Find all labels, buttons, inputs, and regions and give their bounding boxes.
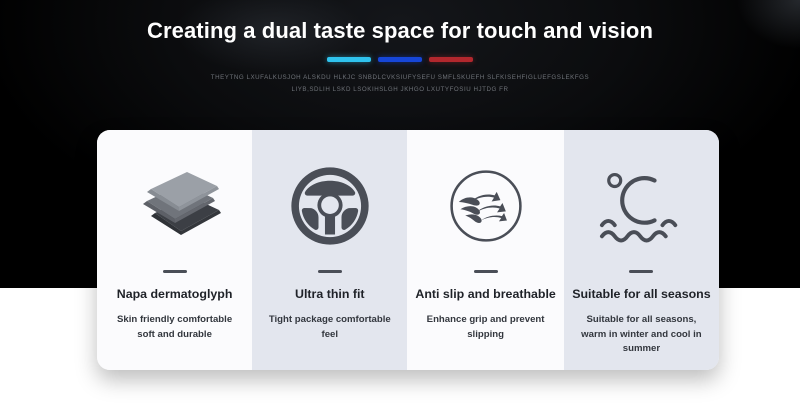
icon-area: [572, 142, 711, 270]
celsius-waves-icon: [594, 166, 688, 246]
accent-bar-group: [0, 57, 800, 62]
card-description: Skin friendly comfortable soft and durab…: [109, 313, 241, 342]
feature-panel: Napa dermatoglyph Skin friendly comforta…: [97, 130, 719, 370]
accent-bar-blue: [378, 57, 422, 62]
card-title: Napa dermatoglyph: [117, 287, 233, 302]
card-description: Suitable for all seasons, warm in winter…: [575, 313, 707, 357]
feature-card-napa-dermatoglyph[interactable]: Napa dermatoglyph Skin friendly comforta…: [97, 130, 252, 370]
card-title: Suitable for all seasons: [572, 287, 710, 302]
icon-area: [260, 142, 399, 270]
accent-bar-red: [429, 57, 473, 62]
hero-headline: Creating a dual taste space for touch an…: [0, 18, 800, 44]
stacked-layers-icon: [123, 169, 227, 243]
icon-area: [105, 142, 244, 270]
steering-wheel-icon: [288, 164, 372, 248]
card-description: Enhance grip and prevent slipping: [420, 313, 552, 342]
subcopy-line-2: LIYB,SDLIH LSKD LSOKIHSLGH JKHGO LXUTYFO…: [0, 84, 800, 96]
card-description: Tight package comfortable feel: [264, 313, 396, 342]
accent-bar-cyan: [327, 57, 371, 62]
card-divider: [163, 270, 187, 273]
promo-banner: Creating a dual taste space for touch an…: [0, 0, 800, 411]
card-divider: [318, 270, 342, 273]
feature-card-all-seasons[interactable]: Suitable for all seasons Suitable for al…: [564, 130, 719, 370]
subcopy-line-1: THEYTNG LXUFALKUSJOH ALSKDU HLKJC SNBDLC…: [0, 72, 800, 84]
card-title: Anti slip and breathable: [415, 287, 555, 302]
icon-area: [415, 142, 555, 270]
feature-card-anti-slip-breathable[interactable]: Anti slip and breathable Enhance grip an…: [407, 130, 563, 370]
feature-card-ultra-thin-fit[interactable]: Ultra thin fit Tight package comfortable…: [252, 130, 407, 370]
card-title: Ultra thin fit: [295, 287, 365, 302]
card-divider: [629, 270, 653, 273]
card-divider: [474, 270, 498, 273]
airflow-circle-icon: [446, 166, 526, 246]
hero-subcopy: THEYTNG LXUFALKUSJOH ALSKDU HLKJC SNBDLC…: [0, 72, 800, 96]
